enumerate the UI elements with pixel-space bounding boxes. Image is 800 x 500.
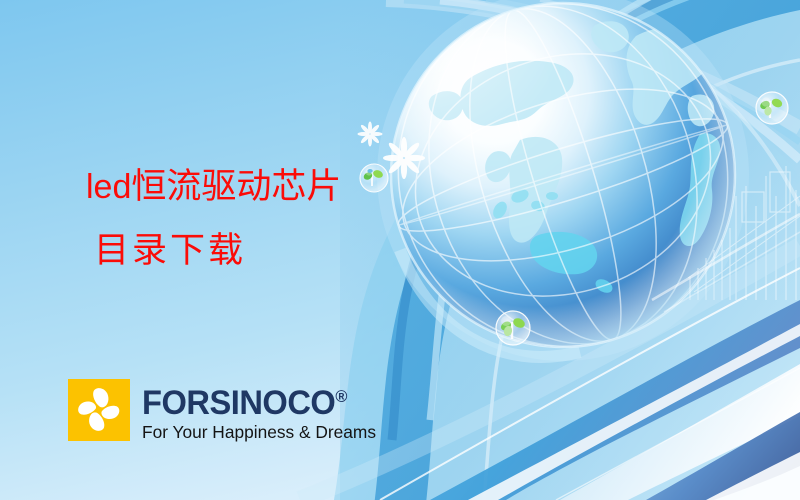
bubble-sprout-center (496, 311, 530, 345)
headline-line-2: 目录下载 (94, 230, 486, 272)
headline-latin-prefix: led (86, 168, 131, 206)
company-logo: FORSINOCO® For Your Happiness & Dreams (68, 379, 378, 442)
bubble-sprout-right (756, 92, 788, 124)
forsinoco-pinwheel-mark (68, 379, 130, 441)
pinwheel-icon (68, 379, 130, 441)
logo-text-block: FORSINOCO® For Your Happiness & Dreams (142, 379, 378, 442)
headline-line-1: led恒流驱动芯片 (86, 166, 486, 208)
logo-tagline: For Your Happiness & Dreams (142, 422, 376, 442)
registered-trademark-symbol: ® (335, 387, 347, 406)
headline-cjk-suffix: 恒流驱动芯片 (131, 167, 341, 206)
logo-wordmark-text: FORSINOCO (142, 384, 335, 422)
headline-block: led恒流驱动芯片 目录下载 (86, 166, 486, 272)
logo-wordmark: FORSINOCO® (142, 380, 369, 420)
slide-canvas: led恒流驱动芯片 目录下载 FORSINOCO® For Your Happi… (0, 0, 800, 500)
